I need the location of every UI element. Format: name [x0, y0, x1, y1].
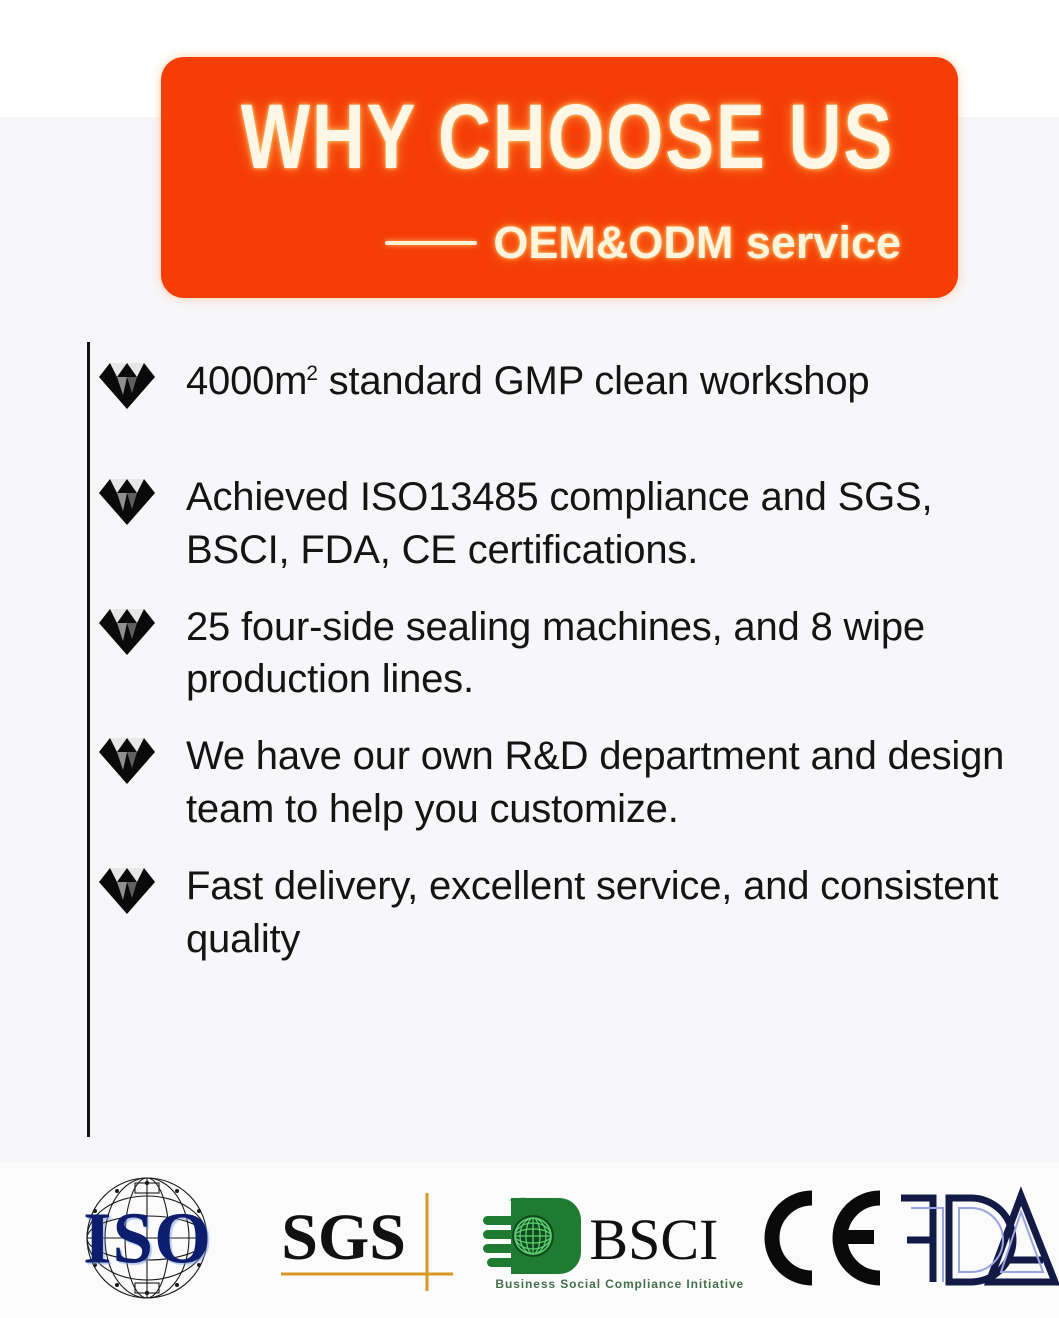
diamond-gem-icon — [96, 601, 158, 655]
list-item: We have our own R&D department and desig… — [96, 730, 1016, 836]
bsci-tagline: Business Social Compliance Initiative — [495, 1277, 744, 1291]
list-item: 25 four-side sealing machines, and 8 wip… — [96, 601, 1016, 707]
bsci-label: BSCI — [589, 1207, 718, 1272]
page-title: WHY CHOOSE US — [241, 91, 879, 183]
certification-logo-ce — [761, 1188, 887, 1288]
superscript: 2 — [306, 362, 317, 385]
certification-logo-fda — [893, 1186, 1059, 1290]
diamond-gem-icon — [96, 471, 158, 525]
sgs-label: SGS — [281, 1205, 406, 1271]
certification-logo-iso: ISO — [42, 1175, 253, 1301]
iso-label: ISO — [47, 1202, 247, 1275]
diamond-gem-icon — [96, 860, 158, 914]
list-item-label: Fast delivery, excellent service, and co… — [158, 860, 1016, 966]
list-item-label: 4000m2 standard GMP clean workshop — [158, 355, 1016, 408]
ce-mark-icon — [762, 1188, 886, 1288]
fda-outline-icon — [893, 1186, 1059, 1290]
iso-globe-icon: ISO — [47, 1175, 247, 1301]
certification-logo-row: ISO SGS — [0, 1168, 1059, 1308]
bsci-hand-globe-icon — [481, 1190, 585, 1287]
list-item: 4000m2 standard GMP clean workshop — [96, 355, 1016, 447]
list-item-label: 25 four-side sealing machines, and 8 wip… — [158, 601, 1016, 707]
list-item-label: Achieved ISO13485 compliance and SGS, BS… — [158, 471, 1016, 577]
feature-text-main: 4000m — [186, 359, 307, 403]
banner-subtitle-row: OEM&ODM service — [385, 220, 901, 265]
banner-subtitle: OEM&ODM service — [493, 220, 901, 265]
diamond-gem-icon — [96, 355, 158, 409]
em-dash-rule-icon — [385, 241, 477, 245]
list-item: Fast delivery, excellent service, and co… — [96, 860, 1016, 966]
feature-list: 4000m2 standard GMP clean workshop Achie… — [96, 355, 1016, 989]
certification-logo-sgs: SGS — [275, 1179, 461, 1297]
promo-banner-page: WHY CHOOSE US OEM&ODM service 4000m2 sta… — [0, 0, 1059, 1318]
sgs-cross-icon: SGS — [275, 1179, 461, 1297]
certification-logo-bsci: BSCI Business Social Compliance Initiati… — [481, 1179, 747, 1297]
feature-list-divider — [87, 342, 90, 1137]
list-item: Achieved ISO13485 compliance and SGS, BS… — [96, 471, 1016, 577]
feature-text-rest: standard GMP clean workshop — [318, 359, 870, 403]
list-item-label: We have our own R&D department and desig… — [158, 730, 1016, 836]
diamond-gem-icon — [96, 730, 158, 784]
why-choose-us-banner: WHY CHOOSE US OEM&ODM service — [161, 57, 958, 298]
